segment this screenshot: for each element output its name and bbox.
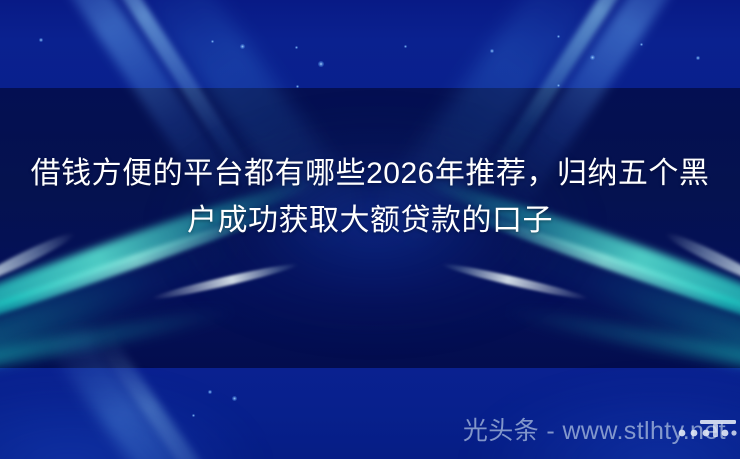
background-band-top	[0, 0, 740, 88]
watermark: 光头条 - www.stlhty.net	[463, 411, 726, 447]
watermark-text: 光头条 - www.stlhty.net	[463, 411, 726, 447]
cover-title: 借钱方便的平台都有哪些2026年推荐，归纳五个黑户成功获取大额贷款的口子	[0, 150, 740, 244]
article-cover-image: 借钱方便的平台都有哪些2026年推荐，归纳五个黑户成功获取大额贷款的口子 光头条…	[0, 0, 740, 459]
